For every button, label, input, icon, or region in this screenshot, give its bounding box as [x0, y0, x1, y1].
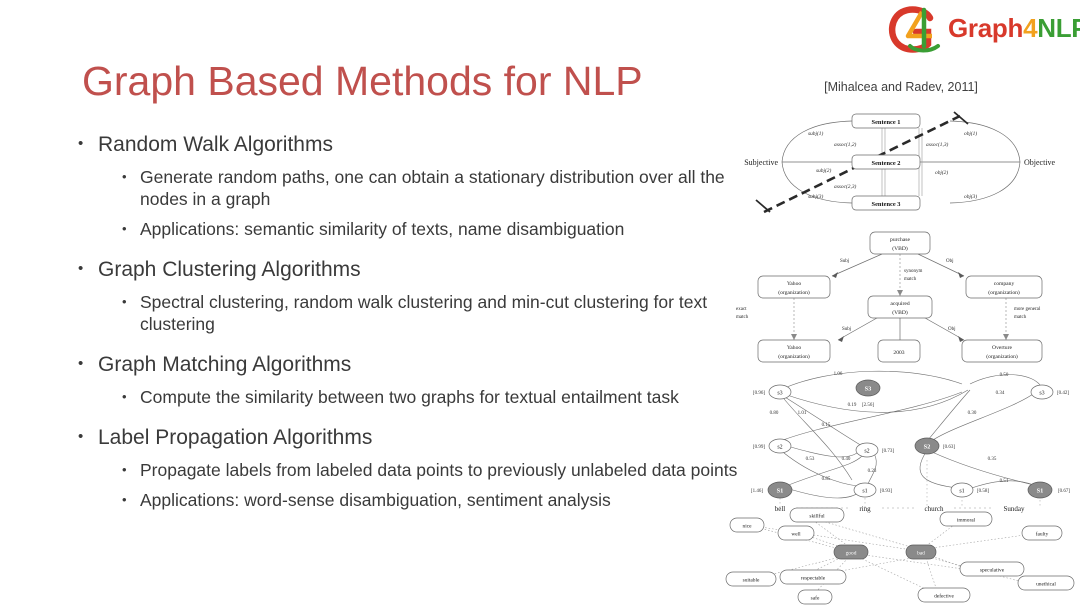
figure-edge-obj2: obj(2) [935, 169, 948, 176]
graph4nlp-logo-mark [886, 6, 948, 54]
bullet-group: • Label Propagation Algorithms • Propaga… [72, 425, 762, 511]
figure-edge-assoc12: assoc(1,2) [834, 141, 857, 148]
figure-edge-weight: 1.06 [834, 372, 843, 377]
figure-edge-weight: 0.50 [1000, 373, 1009, 378]
bullet-level2: • Propagate labels from labeled data poi… [72, 459, 762, 481]
figure-edge-assoc23: assoc(2,3) [834, 183, 857, 190]
bullet-level2-label: Spectral clustering, random walk cluster… [140, 292, 707, 334]
figure-column: [Mihalcea and Radev, 2011] [722, 72, 1080, 608]
bullet-group: • Graph Matching Algorithms • Compute th… [72, 352, 762, 408]
figure-term-skillful: skillful [809, 513, 825, 520]
figure-seed-good: good [846, 551, 857, 557]
bullet-level1-label: Random Walk Algorithms [98, 133, 333, 156]
figure-node-sentence3: Sentence 3 [872, 201, 901, 208]
bullet-level2: • Generate random paths, one can obtain … [72, 166, 762, 210]
slide-body: • Random Walk Algorithms • Generate rand… [72, 132, 762, 528]
bullet-level2-label: Compute the similarity between two graph… [140, 387, 679, 407]
figure-edge-obj1: obj(1) [964, 130, 977, 137]
bullet-level2: • Spectral clustering, random walk clust… [72, 291, 762, 335]
figure-edge-subj1: subj(1) [808, 130, 823, 137]
figure-node-acquired: acquired [890, 301, 909, 307]
figure-label-general-match-2: match [1014, 315, 1027, 320]
figure-node-sense-selected: S1 [777, 488, 784, 495]
figure-term-nice: nice [743, 524, 753, 530]
figure-node-company-type: (organization) [988, 289, 1020, 296]
figure-node-yahoo-top-type: (organization) [778, 289, 810, 296]
figure-edge-assoc13: assoc(1,3) [926, 141, 949, 148]
figure-edge-weight: 0.85 [822, 477, 831, 482]
figure-term-defective: defective [934, 593, 954, 600]
figure-edge-weight: 0.51 [1000, 479, 1009, 484]
figure-node-purchase: purchase [890, 237, 910, 243]
figure-node-yahoo-bottom: Yahoo [787, 345, 802, 351]
figure-edge-weight: 0.23 [868, 469, 877, 474]
logo-text-four: 4 [1023, 13, 1037, 43]
figure-node-sentence1: Sentence 1 [872, 119, 901, 126]
bullet-level1: • Label Propagation Algorithms [72, 425, 762, 451]
figure-score: [1.46] [751, 489, 763, 494]
figure-min-cut: Sentence 1 Sentence 2 Sentence 3 Subject… [722, 108, 1080, 216]
figure-node-sense: s3 [1039, 391, 1044, 397]
figure-label-exact-match-1: exact [736, 307, 747, 312]
figure-term-well: well [791, 532, 801, 538]
bullet-level1-label: Label Propagation Algorithms [98, 426, 372, 449]
figure-score: [0.93] [880, 489, 892, 494]
bullet-glyph-icon: • [122, 218, 127, 240]
figure-node-sense-selected: S1 [1037, 488, 1044, 495]
figure-wsd: s3 [0.96] s2 [0.99] S1 [1.46] S3 [2.56] … [722, 364, 1080, 514]
figure-score: [0.42] [1057, 391, 1069, 396]
figure-pole-objective: Objective [1024, 158, 1056, 167]
figure-edge-weight: 0.40 [842, 457, 851, 462]
figure-score: [0.73] [882, 449, 894, 454]
figure-term-unethical: unethical [1036, 582, 1056, 588]
figure-node-sense: s3 [777, 391, 782, 397]
figure-score: [0.67] [1058, 489, 1070, 494]
bullet-level1-label: Graph Matching Algorithms [98, 353, 351, 376]
figure-label-synonym-match-2: match [904, 277, 917, 282]
figure-edge-obj-bottom: Obj [948, 327, 956, 332]
figure-edge-subj-top: Subj [840, 259, 849, 264]
figure-edge-weight: 0.34 [996, 391, 1005, 396]
bullet-level2: • Applications: word-sense disambiguatio… [72, 489, 762, 511]
bullet-level1: • Graph Clustering Algorithms [72, 257, 762, 283]
bullet-level2: • Applications: semantic similarity of t… [72, 218, 762, 240]
bullet-level1: • Random Walk Algorithms [72, 132, 762, 158]
figure-edge-weight: 0.30 [968, 411, 977, 416]
bullet-glyph-icon: • [78, 132, 83, 156]
bullet-glyph-icon: • [78, 352, 83, 376]
figure-node-sense: s2 [864, 449, 869, 455]
figure-label-general-match-1: more general [1014, 307, 1041, 312]
bullet-glyph-icon: • [78, 257, 83, 281]
bullet-group: • Graph Clustering Algorithms • Spectral… [72, 257, 762, 335]
figure-score: [2.56] [862, 403, 874, 408]
slide-title: Graph Based Methods for NLP [82, 58, 643, 105]
figure-label-synonym-match-1: synonym [904, 269, 922, 274]
figure-score: [0.58] [977, 489, 989, 494]
figure-label-propagation: nice skillful well suitable respectable … [722, 504, 1080, 608]
logo-text-nlp: NLP [1037, 13, 1080, 43]
bullet-glyph-icon: • [122, 459, 127, 481]
bullet-level2-label: Applications: semantic similarity of tex… [140, 219, 624, 239]
bullet-level2-label: Generate random paths, one can obtain a … [140, 167, 725, 209]
figure-node-sense-selected: S2 [924, 444, 931, 451]
figure-score: [0.63] [943, 445, 955, 450]
bullet-glyph-icon: • [122, 386, 127, 408]
figure-node-purchase-pos: (VBD) [892, 245, 908, 252]
figure-node-overture-type: (organization) [986, 353, 1018, 360]
figure-node-overture: Overture [992, 345, 1012, 351]
bullet-level2-label: Applications: word-sense disambiguation,… [140, 490, 611, 510]
figure-graph-matching: purchase (VBD) Yahoo (organization) comp… [722, 228, 1080, 368]
figure-node-yahoo-bottom-type: (organization) [778, 353, 810, 360]
figure-node-sense: s2 [777, 445, 782, 451]
figure-term-suitable: suitable [743, 578, 760, 584]
graph4nlp-logo: Graph4NLP [886, 4, 1076, 56]
bullet-level1: • Graph Matching Algorithms [72, 352, 762, 378]
figure-term-immoral: immoral [957, 518, 976, 524]
figure-node-sentence2: Sentence 2 [872, 160, 901, 167]
bullet-glyph-icon: • [122, 489, 127, 511]
figure-edge-subj-bottom: Subj [842, 327, 851, 332]
bullet-level2-label: Propagate labels from labeled data point… [140, 460, 737, 480]
figure-score: [0.96] [753, 391, 765, 396]
figure-node-yahoo-top: Yahoo [787, 281, 802, 287]
figure-label-exact-match-2: match [736, 315, 749, 320]
figure-node-sense: s1 [959, 489, 964, 495]
bullet-glyph-icon: • [78, 425, 83, 449]
figure-edge-weight: 0.53 [806, 457, 815, 462]
figure-edge-weight: 0.15 [822, 423, 831, 428]
bullet-glyph-icon: • [122, 166, 127, 188]
figure-edge-weight: 0.35 [988, 457, 997, 462]
figure-edge-weight: 1.01 [798, 411, 807, 416]
figure-node-2003: 2003 [893, 350, 904, 356]
figure-edge-obj3: obj(3) [964, 193, 977, 200]
figure-node-sense-selected: S3 [865, 386, 872, 393]
figure-pole-subjective: Subjective [744, 158, 778, 167]
figure-term-respectable: respectable [801, 576, 826, 582]
logo-text-graph: Graph [948, 13, 1023, 43]
figure-edge-weight: 0.19 [848, 403, 857, 408]
figure-seed-bad: bad [917, 551, 925, 557]
figure-edge-subj2: subj(2) [816, 167, 831, 174]
figure-term-faulty: faulty [1036, 531, 1049, 538]
figure-node-company: company [994, 281, 1015, 287]
figure-edge-weight: 0.80 [770, 411, 779, 416]
figure-term-safe: safe [811, 595, 820, 602]
figure-citation: [Mihalcea and Radev, 2011] [722, 80, 1080, 94]
figure-score: [0.99] [753, 445, 765, 450]
figure-term-speculative: speculative [980, 568, 1005, 574]
figure-node-sense: s1 [862, 489, 867, 495]
bullet-group: • Random Walk Algorithms • Generate rand… [72, 132, 762, 240]
figure-node-acquired-pos: (VBD) [892, 309, 908, 316]
graph4nlp-wordmark: Graph4NLP [948, 13, 1080, 44]
bullet-level2: • Compute the similarity between two gra… [72, 386, 762, 408]
bullet-glyph-icon: • [122, 291, 127, 313]
bullet-level1-label: Graph Clustering Algorithms [98, 258, 361, 281]
figure-edge-subj3: subj(3) [808, 193, 823, 200]
figure-edge-obj-top: Obj [946, 259, 954, 264]
